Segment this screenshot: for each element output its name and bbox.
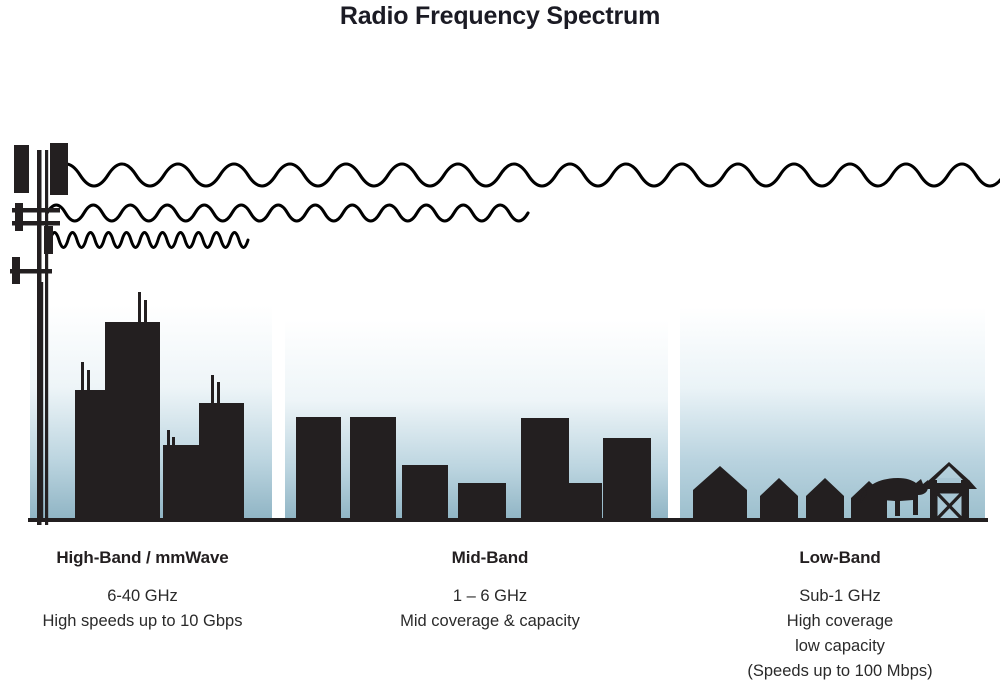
infographic-canvas: Radio Frequency Spectrum: [0, 0, 1000, 700]
band-line: 6-40 GHz: [0, 584, 285, 609]
band-title-mid: Mid-Band: [340, 548, 640, 568]
band-line: High coverage: [690, 609, 990, 634]
band-title-low: Low-Band: [690, 548, 990, 568]
band-description-mid: 1 – 6 GHz Mid coverage & capacity: [340, 584, 640, 634]
band-description-low: Sub-1 GHz High coverage low capacity (Sp…: [690, 584, 990, 684]
band-line: (Speeds up to 100 Mbps): [690, 659, 990, 684]
band-label-group: High-Band / mmWave 6-40 GHz High speeds …: [0, 0, 1000, 700]
band-description-high: 6-40 GHz High speeds up to 10 Gbps: [0, 584, 285, 634]
band-title-high: High-Band / mmWave: [0, 548, 285, 568]
band-label-mid: Mid-Band 1 – 6 GHz Mid coverage & capaci…: [340, 548, 640, 634]
band-line: High speeds up to 10 Gbps: [0, 609, 285, 634]
band-line: Sub-1 GHz: [690, 584, 990, 609]
band-line: Mid coverage & capacity: [340, 609, 640, 634]
band-label-high: High-Band / mmWave 6-40 GHz High speeds …: [0, 548, 285, 634]
band-line: 1 – 6 GHz: [340, 584, 640, 609]
band-label-low: Low-Band Sub-1 GHz High coverage low cap…: [690, 548, 990, 684]
band-line: low capacity: [690, 634, 990, 659]
